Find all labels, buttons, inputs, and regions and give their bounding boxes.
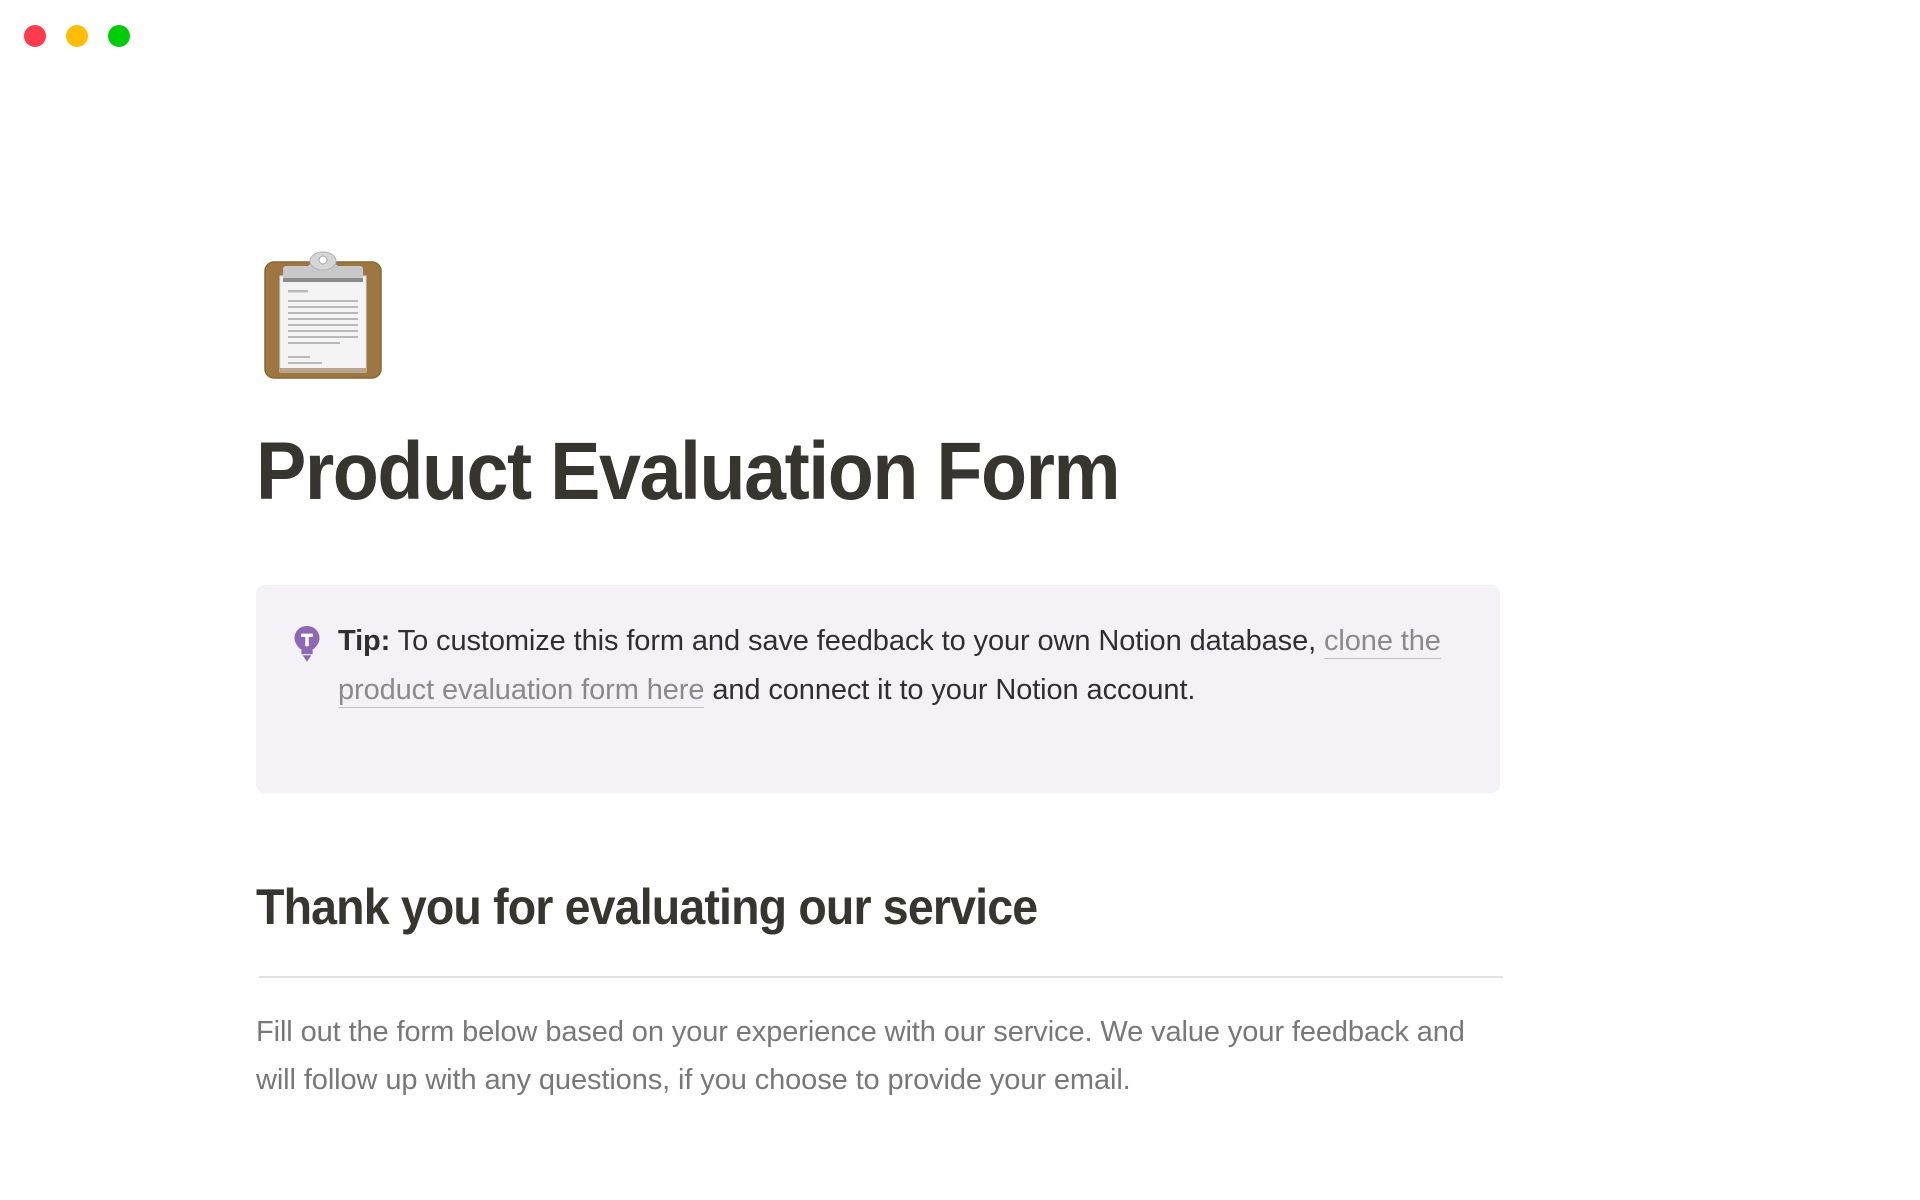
close-window-button[interactable] (24, 25, 46, 47)
lightbulb-tip-icon (292, 625, 322, 665)
tip-text-before-link: To customize this form and save feedback… (390, 625, 1324, 657)
section-paragraph: Fill out the form below based on your ex… (256, 1008, 1471, 1104)
section-divider (259, 976, 1503, 978)
tip-callout: Tip: To customize this form and save fee… (256, 585, 1500, 793)
tip-label: Tip: (338, 625, 390, 657)
minimize-window-button[interactable] (66, 25, 88, 47)
page-title: Product Evaluation Form (256, 428, 1406, 517)
page-content: Product Evaluation Form Tip: To customiz… (256, 0, 1506, 1133)
maximize-window-button[interactable] (108, 25, 130, 47)
clipboard-emoji-icon[interactable] (256, 248, 390, 382)
section-heading: Thank you for evaluating our service (256, 879, 1419, 935)
tip-callout-text: Tip: To customize this form and save fee… (338, 617, 1464, 715)
tip-text-after-link: and connect it to your Notion account. (704, 674, 1195, 706)
traffic-light-controls (24, 25, 130, 47)
